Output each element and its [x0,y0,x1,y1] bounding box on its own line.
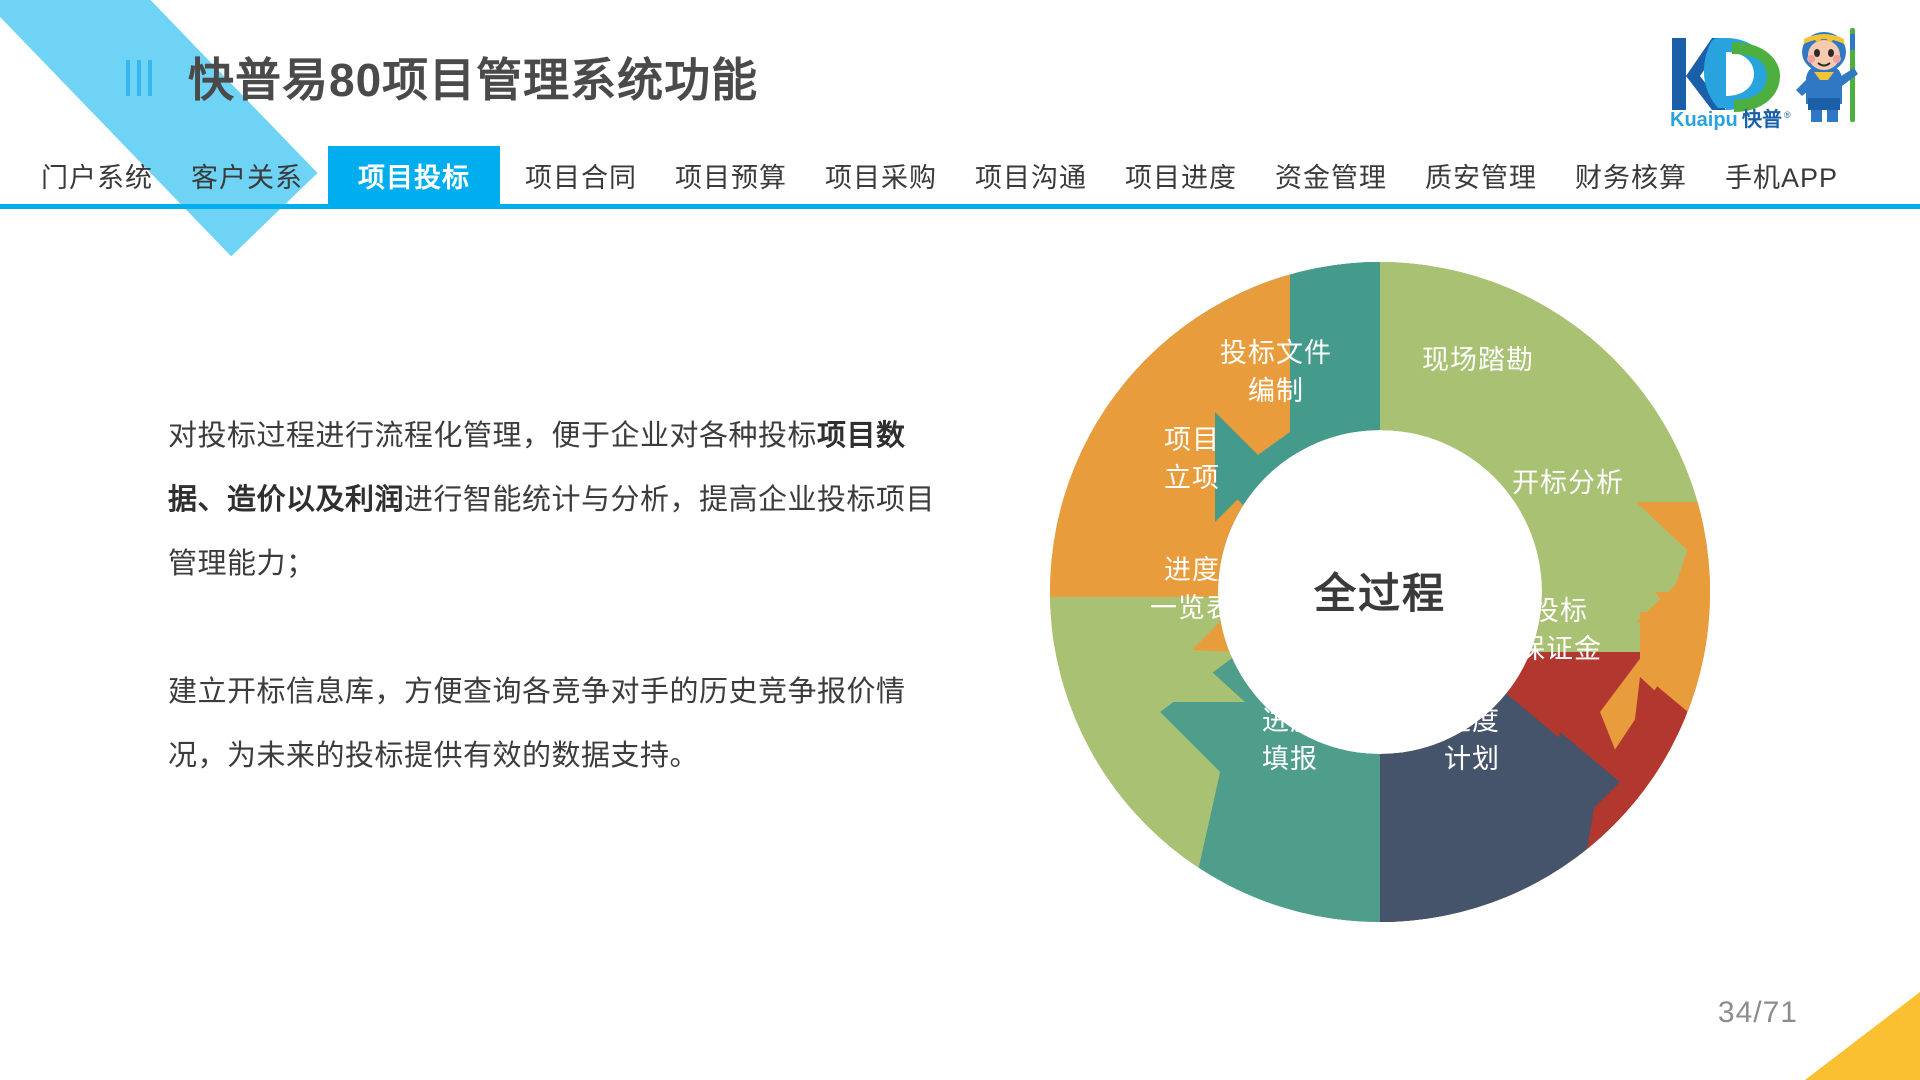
logo-trademark: ® [1784,110,1791,120]
nav-item-quality-safety[interactable]: 质安管理 [1406,146,1556,204]
label-progress-overview-l2: 一览表 [1150,593,1234,623]
label-bid-report-line1: 投标 [1262,668,1318,698]
label-bid-doc-prep-l2: 编制 [1248,376,1304,406]
process-donut-chart: 现场踏勘 开标分析 投标 保证金 投标 进度 计划 投标 进度 填报 进度 一览… [1040,252,1720,932]
description-text: 对投标过程进行流程化管理，便于企业对各种投标项目数据、造价以及利润进行智能统计与… [168,404,958,788]
paragraph-one-pre: 对投标过程进行流程化管理，便于企业对各种投标 [168,420,817,452]
nav-item-crm[interactable]: 客户关系 [172,146,322,204]
page-header: 快普易80项目管理系统功能 Kuaipu 快普 ® [0,0,1920,148]
title-accent-bars-icon [126,60,152,96]
label-bid-deposit-line2: 保证金 [1518,634,1602,664]
mascot-icon [1796,28,1858,122]
corner-triangle-decoration [1805,992,1920,1080]
label-bid-opening-analysis: 开标分析 [1512,468,1624,498]
label-bid-report-line2: 进度 [1262,706,1318,736]
label-site-survey: 现场踏勘 [1422,345,1534,375]
brand-logo: Kuaipu 快普 ® [1666,20,1886,130]
nav-item-bidding[interactable]: 项目投标 [328,146,500,204]
label-project-init-l2: 立项 [1164,463,1220,493]
nav-divider [0,204,1920,209]
nav-item-progress[interactable]: 项目进度 [1106,146,1256,204]
page-number: 34/71 [1718,996,1798,1030]
label-bid-plan-line2: 进度 [1444,706,1500,736]
label-bid-doc-prep-l1: 投标文件 [1220,338,1332,368]
page-title: 快普易80项目管理系统功能 [188,44,758,110]
label-bid-plan-line3: 计划 [1444,744,1500,774]
label-bid-plan-line1: 投标 [1444,668,1500,698]
nav-item-funds[interactable]: 资金管理 [1256,146,1406,204]
logo-wordmark-cn: 快普 [1742,107,1782,130]
label-progress-overview-l1: 进度 [1164,555,1220,585]
nav-item-finance[interactable]: 财务核算 [1556,146,1706,204]
nav-item-communication[interactable]: 项目沟通 [956,146,1106,204]
label-bid-report-line3: 填报 [1262,744,1318,774]
logo-wordmark: Kuaipu [1670,109,1738,130]
nav-item-portal[interactable]: 门户系统 [22,146,172,204]
nav-item-budget[interactable]: 项目预算 [656,146,806,204]
label-project-init-l1: 项目 [1164,425,1220,455]
nav-item-purchase[interactable]: 项目采购 [806,146,956,204]
main-nav[interactable]: 门户系统 客户关系 项目投标 项目合同 项目预算 项目采购 项目沟通 项目进度 … [0,146,1920,204]
nav-item-contract[interactable]: 项目合同 [506,146,656,204]
paragraph-two: 建立开标信息库，方便查询各竞争对手的历史竞争报价情况，为未来的投标提供有效的数据… [168,660,958,788]
paragraph-one: 对投标过程进行流程化管理，便于企业对各种投标项目数据、造价以及利润进行智能统计与… [168,404,958,596]
donut-center-label: 全过程 [1313,570,1446,617]
label-bid-deposit-line1: 投标 [1532,596,1588,626]
nav-item-mobile-app[interactable]: 手机APP [1706,146,1857,204]
